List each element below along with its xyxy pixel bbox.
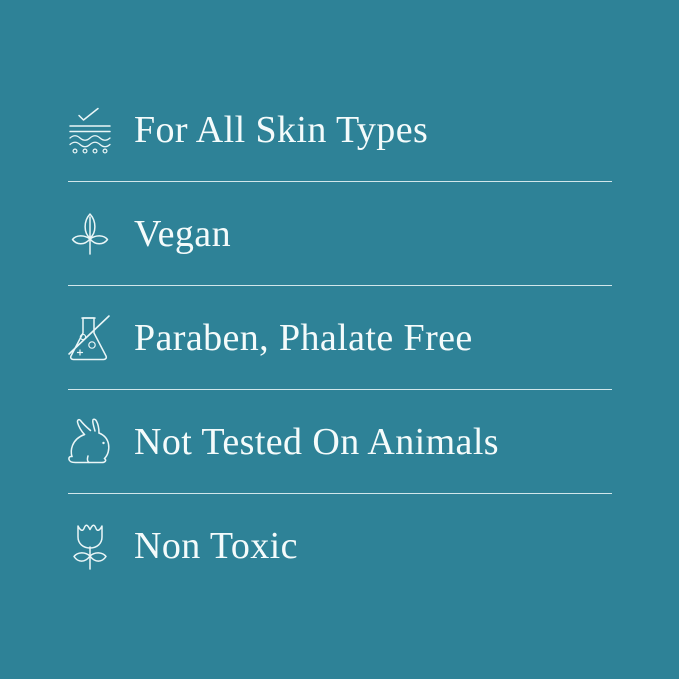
feature-row: For All Skin Types <box>68 95 612 165</box>
tulip-flower-icon <box>68 520 112 572</box>
product-claims-panel: For All Skin Types Vegan P <box>0 0 679 679</box>
divider <box>68 493 612 494</box>
feature-row: Vegan <box>68 199 612 269</box>
feature-row: Non Toxic <box>68 511 612 581</box>
divider <box>68 181 612 182</box>
feature-label: Paraben, Phalate Free <box>134 319 473 357</box>
divider <box>68 285 612 286</box>
feature-label: Vegan <box>134 215 231 253</box>
feature-label: Not Tested On Animals <box>134 423 499 461</box>
divider <box>68 389 612 390</box>
no-chemical-flask-icon <box>68 312 112 364</box>
leaf-sprout-icon <box>68 208 112 260</box>
rabbit-icon <box>68 416 112 468</box>
feature-row: Paraben, Phalate Free <box>68 303 612 373</box>
skin-layers-check-icon <box>68 104 112 156</box>
feature-label: For All Skin Types <box>134 111 428 149</box>
feature-row: Not Tested On Animals <box>68 407 612 477</box>
feature-label: Non Toxic <box>134 527 298 565</box>
